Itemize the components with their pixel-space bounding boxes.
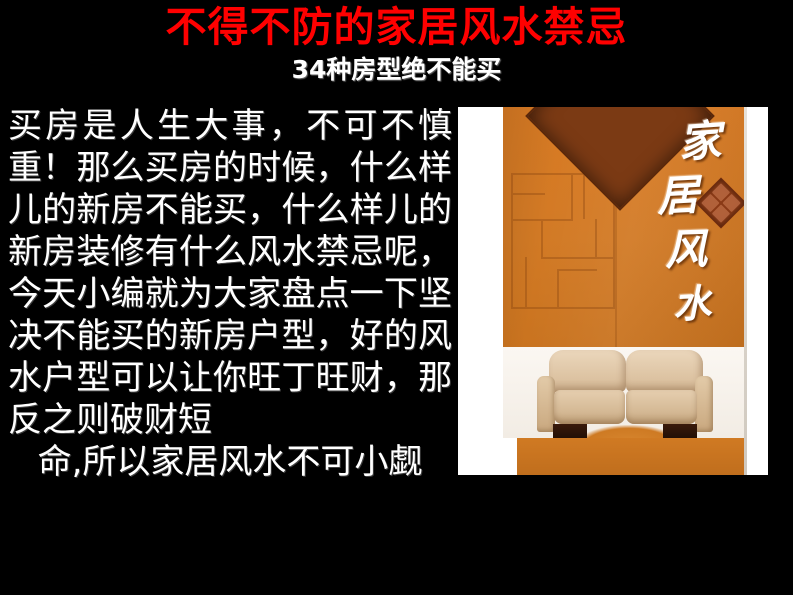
sofa-leg-right [663, 424, 697, 438]
sofa-arm-right [695, 376, 713, 432]
body-paragraph-text: 买房是人生大事，不可不慎重！那么买房的时候，什么样儿的新房不能买，什么样儿的新房… [8, 106, 452, 440]
cover-right-edge [744, 107, 747, 475]
sofa-illustration [537, 350, 713, 442]
calligraphy-char-1: 家 [655, 112, 745, 172]
calligraphy-char-4: 水 [648, 275, 737, 333]
calligraphy-char-3: 风 [642, 222, 730, 279]
sofa-seat-right [626, 390, 697, 424]
body-paragraph: 买房是人生大事，不可不慎重！那么买房的时候，什么样儿的新房不能买，什么样儿的新房… [8, 105, 452, 483]
cover-photo-frame: 家 居 风 水 [458, 107, 768, 475]
sofa-leg-left [553, 424, 587, 438]
sofa-back-right [626, 350, 703, 392]
sofa-back-left [549, 350, 626, 392]
book-cover-image: 家 居 风 水 [503, 107, 747, 475]
page-title: 不得不防的家居风水禁忌 [0, 2, 793, 52]
sofa-seat-left [554, 390, 625, 424]
cover-floor-base [517, 438, 747, 475]
page-subtitle: 34种房型绝不能买 [0, 54, 793, 86]
slide-canvas: 不得不防的家居风水禁忌 34种房型绝不能买 买房是人生大事，不可不慎重！那么买房… [0, 0, 793, 595]
body-paragraph-last-line: 命,所以家居风水不可小觑 [8, 441, 452, 483]
